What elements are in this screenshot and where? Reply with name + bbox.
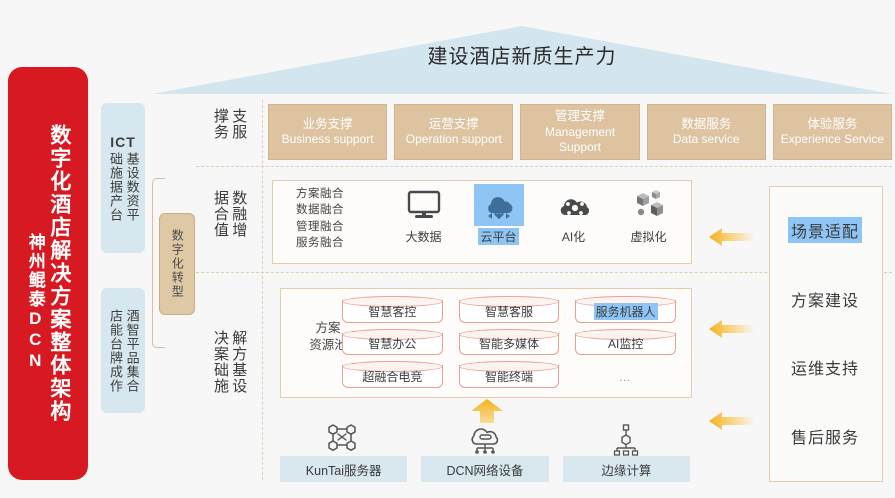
right-service-item[interactable]: 售后服务 bbox=[788, 423, 862, 449]
right-service-item[interactable]: 场景适配 bbox=[788, 217, 862, 243]
row-label-data-fusion: 数融增 据合值 bbox=[200, 190, 258, 238]
fusion-text-list: 方案融合数据融合管理融合服务融合 bbox=[296, 186, 344, 251]
digital-transformation-box[interactable]: 数字化转型 bbox=[159, 213, 195, 315]
resource-pool-item[interactable]: 智能多媒体 bbox=[457, 329, 562, 356]
infrastructure-cell[interactable]: KunTai服务器 bbox=[280, 422, 407, 484]
support-service-card-3[interactable]: 管理支撑Management Support bbox=[520, 104, 639, 160]
main-title-banner: 数字化酒店解决方案整体架构 神州鲲泰DCN bbox=[8, 67, 88, 480]
resource-pool-item-label: 智慧客服 bbox=[485, 303, 533, 320]
row-label-support-services: 支服 撑务 bbox=[200, 108, 258, 140]
resource-pool-grid: 智慧客控智慧客服服务机器人智慧办公智能多媒体AI监控超融合电竞智能终端… bbox=[340, 296, 678, 388]
resource-pool-item[interactable]: 超融合电竞 bbox=[340, 361, 445, 388]
fusion-line: 数据融合 bbox=[296, 202, 344, 218]
edge-node-icon bbox=[606, 422, 646, 456]
row-label-solution-col1: 解方基设 bbox=[229, 330, 247, 394]
server-cluster-icon bbox=[324, 422, 364, 456]
resource-pool-item-label: 智能多媒体 bbox=[479, 335, 539, 352]
row-label-solution-col2: 决案础施 bbox=[211, 330, 229, 394]
infrastructure-label: 边缘计算 bbox=[563, 456, 690, 482]
resource-pool-item[interactable]: 智能终端 bbox=[457, 361, 562, 388]
divider-vertical bbox=[262, 100, 263, 480]
resource-pool-item[interactable]: 智慧客控 bbox=[340, 296, 445, 323]
infrastructure-row: KunTai服务器DCN网络设备边缘计算 bbox=[280, 422, 690, 484]
left-arrow-icon-1 bbox=[709, 228, 755, 246]
up-arrow-icon bbox=[470, 398, 504, 424]
support-card-cn: 管理支撑 bbox=[555, 109, 605, 125]
resource-pool-item-label: 服务机器人 bbox=[594, 303, 658, 320]
support-card-en: Data service bbox=[673, 132, 740, 147]
support-service-card-2[interactable]: 运营支撑Operation support bbox=[394, 104, 513, 160]
fusion-icon-label: 大数据 bbox=[405, 228, 441, 245]
banner-sub-title: 神州鲲泰DCN bbox=[25, 233, 45, 372]
support-card-en: Management Support bbox=[523, 125, 636, 155]
row-label-solution-infrastructure: 解方基设 决案础施 bbox=[200, 330, 258, 394]
fusion-icon-cell[interactable]: 虚拟化 bbox=[611, 184, 686, 258]
data-fusion-icon-row: 大数据云平台AI化虚拟化 bbox=[386, 184, 686, 258]
row-label-data-col2: 据合值 bbox=[211, 190, 229, 238]
resource-pool-item-label: … bbox=[619, 370, 633, 384]
banner-main-title: 数字化酒店解决方案整体架构 bbox=[47, 124, 71, 423]
fusion-line: 服务融合 bbox=[296, 235, 344, 251]
architecture-diagram: 数字化酒店解决方案整体架构 神州鲲泰DCN 建设酒店新质生产力 ICT 基设数资… bbox=[0, 0, 895, 498]
right-service-item[interactable]: 运维支持 bbox=[788, 354, 862, 380]
row-label-data-col1: 数融增 bbox=[229, 190, 247, 238]
resource-pool-item-label: 超融合电竞 bbox=[362, 368, 422, 385]
resource-pool-item-label: 智能终端 bbox=[485, 368, 533, 385]
support-card-en: Experience Service bbox=[781, 132, 884, 147]
pillar-ict-platform[interactable]: ICT 基设数资平 础施据产台 bbox=[101, 103, 145, 253]
support-card-en: Operation support bbox=[406, 132, 502, 147]
infrastructure-cell[interactable]: 边缘计算 bbox=[563, 422, 690, 484]
monitor-icon bbox=[401, 184, 447, 226]
resource-pool-item-label: AI监控 bbox=[608, 335, 643, 352]
support-card-cn: 体验服务 bbox=[807, 117, 857, 133]
pillar-hotel-platform[interactable]: 酒智平品集合 店能台牌成作 bbox=[101, 288, 145, 413]
support-card-cn: 数据服务 bbox=[681, 117, 731, 133]
support-card-en: Business support bbox=[282, 132, 374, 147]
resource-pool-item[interactable]: 智慧办公 bbox=[340, 329, 445, 356]
resource-pool-item-label: 智慧办公 bbox=[368, 335, 416, 352]
support-card-cn: 业务支撑 bbox=[303, 117, 353, 133]
ai-cloud-icon bbox=[551, 184, 597, 226]
cubes-icon bbox=[626, 184, 672, 226]
fusion-icon-label: 云平台 bbox=[478, 228, 518, 245]
digital-transformation-label: 数字化转型 bbox=[170, 229, 184, 299]
fusion-line: 管理融合 bbox=[296, 219, 344, 235]
right-service-item[interactable]: 方案建设 bbox=[788, 286, 862, 312]
pillar-ict-en: ICT bbox=[110, 134, 136, 152]
resource-pool-item-label: 智慧客控 bbox=[368, 303, 416, 320]
fusion-icon-label: AI化 bbox=[562, 228, 585, 245]
pillar-hotel-col2: 店能台牌成作 bbox=[106, 309, 123, 393]
cloud-sync-icon bbox=[474, 184, 524, 226]
roof-title: 建设酒店新质生产力 bbox=[152, 40, 892, 69]
left-arrow-icon-2 bbox=[709, 320, 755, 338]
support-card-cn: 运营支撑 bbox=[429, 117, 479, 133]
resource-pool-item[interactable]: 智慧客服 bbox=[457, 296, 562, 323]
support-services-row: 业务支撑Business support运营支撑Operation suppor… bbox=[268, 104, 892, 160]
support-service-card-1[interactable]: 业务支撑Business support bbox=[268, 104, 387, 160]
pillar-ict-col1: 基设数资平 bbox=[123, 152, 140, 222]
resource-pool-item[interactable]: 服务机器人 bbox=[573, 296, 678, 323]
pillar-ict-col2: 础施据产台 bbox=[106, 152, 123, 222]
resource-pool-item[interactable]: AI监控 bbox=[573, 329, 678, 356]
right-services-list: 场景适配方案建设运维支持售后服务 bbox=[769, 186, 881, 480]
pillar-hotel-col1: 酒智平品集合 bbox=[123, 309, 140, 393]
support-service-card-4[interactable]: 数据服务Data service bbox=[647, 104, 766, 160]
row-label-support-col1: 支服 bbox=[229, 108, 247, 140]
infrastructure-label: KunTai服务器 bbox=[280, 456, 407, 482]
infrastructure-label: DCN网络设备 bbox=[421, 456, 548, 482]
fusion-icon-cell[interactable]: 大数据 bbox=[386, 184, 461, 258]
fusion-icon-label: 虚拟化 bbox=[630, 228, 666, 245]
fusion-icon-cell[interactable]: AI化 bbox=[536, 184, 611, 258]
resource-pool-item[interactable]: … bbox=[573, 361, 678, 388]
cloud-network-icon bbox=[465, 422, 505, 456]
divider-horizontal-1 bbox=[196, 166, 892, 167]
infrastructure-cell[interactable]: DCN网络设备 bbox=[421, 422, 548, 484]
support-service-card-5[interactable]: 体验服务Experience Service bbox=[773, 104, 892, 160]
row-label-support-col2: 撑务 bbox=[211, 108, 229, 140]
left-arrow-icon-3 bbox=[709, 412, 755, 430]
fusion-icon-cell[interactable]: 云平台 bbox=[461, 184, 536, 258]
fusion-line: 方案融合 bbox=[296, 186, 344, 202]
